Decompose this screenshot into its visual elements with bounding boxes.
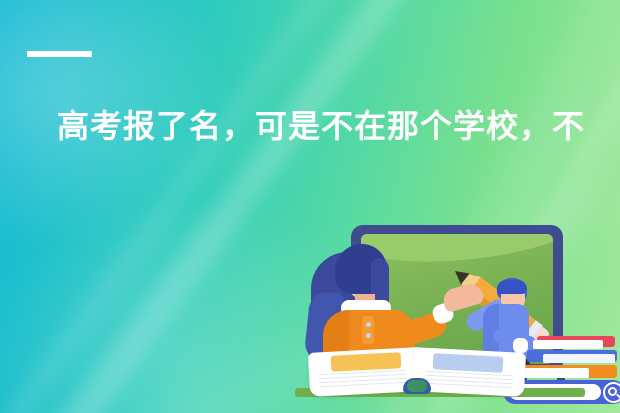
book-top-pages bbox=[533, 340, 603, 349]
blackboard-highlight bbox=[361, 234, 553, 266]
book-middle-pages bbox=[543, 354, 615, 363]
open-book-spine-inner bbox=[407, 380, 427, 392]
student-cuff bbox=[513, 338, 528, 353]
teacher-placket bbox=[362, 316, 374, 344]
book-bottom-pages bbox=[517, 368, 589, 378]
teacher-button bbox=[366, 322, 371, 327]
teacher-button bbox=[366, 333, 371, 338]
page-title: 高考报了名，可是不在那个学校，不 bbox=[57, 105, 620, 147]
student-hair-front bbox=[497, 280, 527, 294]
banner: 高考报了名，可是不在那个学校，不 bbox=[0, 0, 620, 413]
education-illustration bbox=[305, 200, 620, 400]
accent-dash bbox=[27, 51, 92, 57]
